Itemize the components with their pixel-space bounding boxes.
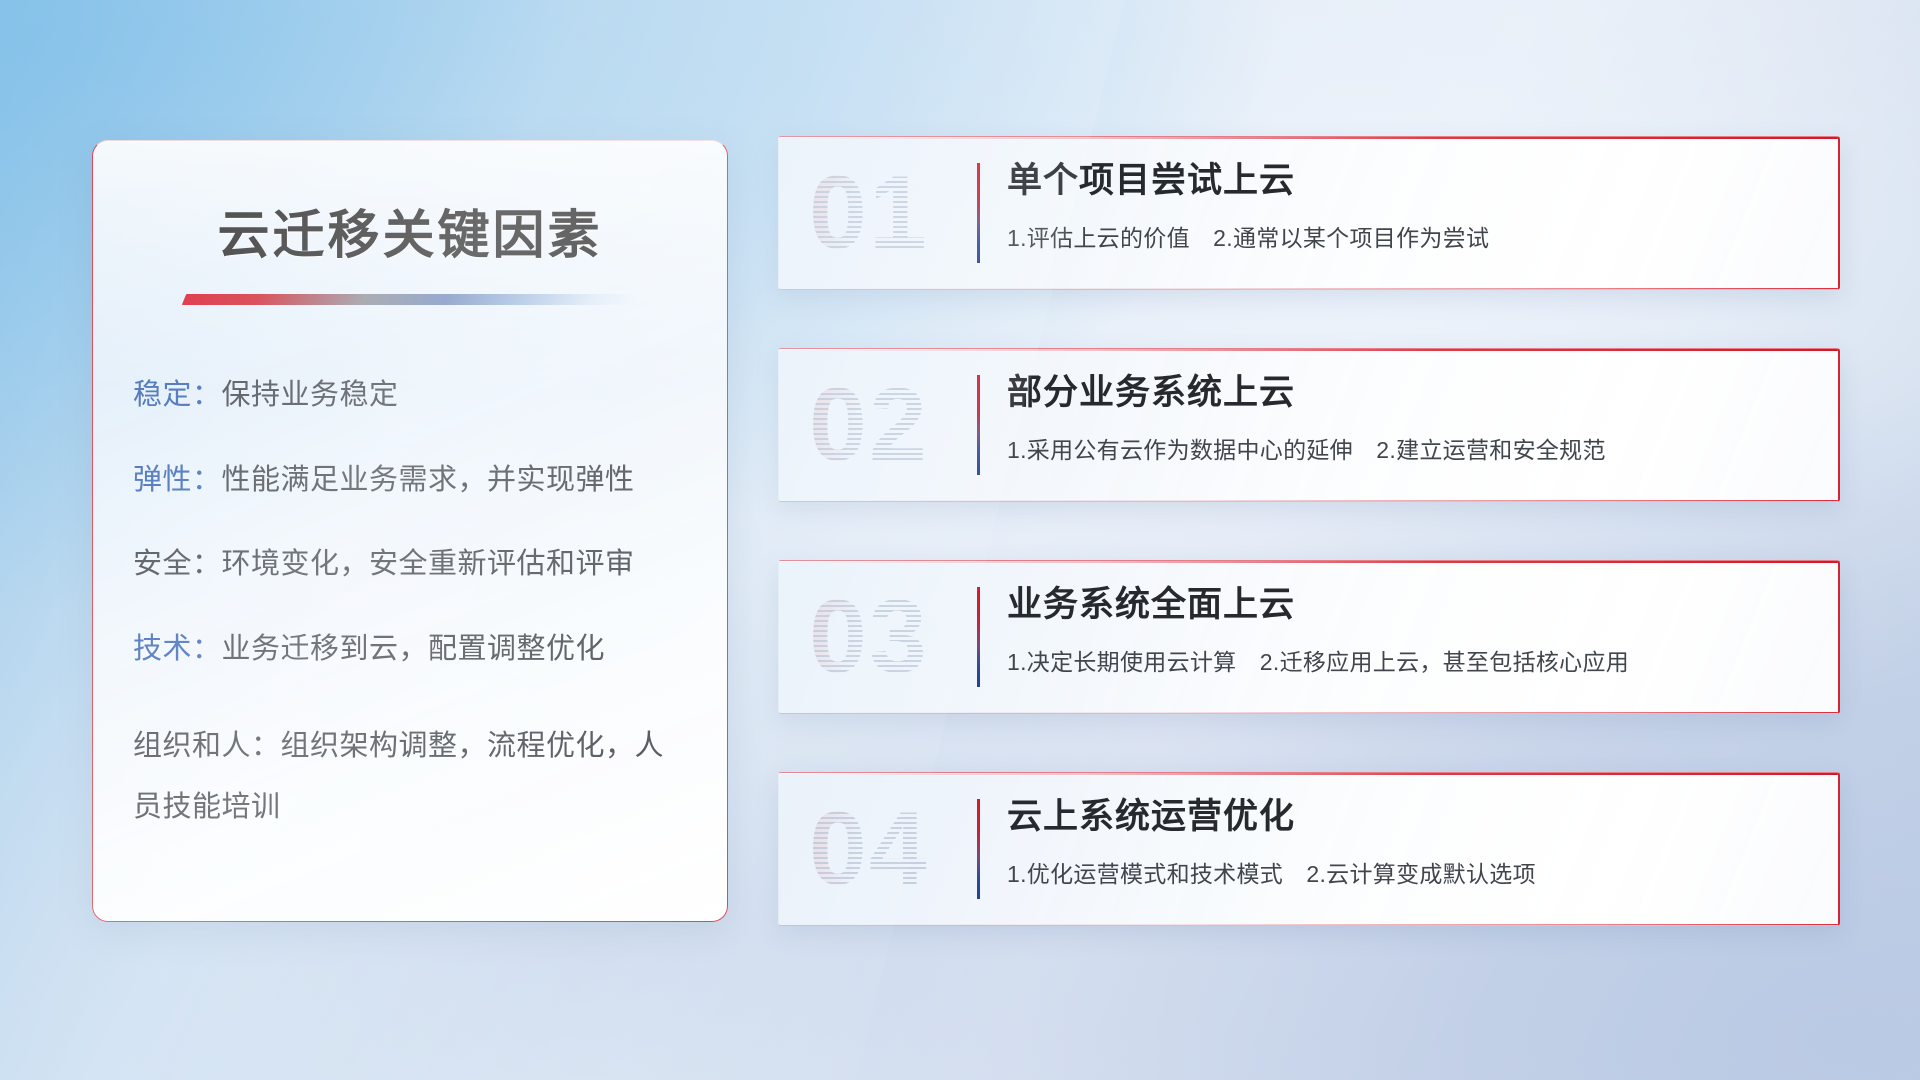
stage-title: 部分业务系统上云 bbox=[1007, 371, 1814, 415]
stage-subtitle: 1.评估上云的价值 2.通常以某个项目作为尝试 bbox=[1007, 219, 1814, 253]
stage-card[interactable]: 02 部分业务系统上云 1.采用公有云作为数据中心的延伸 2.建立运营和安全规范 bbox=[778, 348, 1840, 502]
factor-label: 弹性： bbox=[133, 464, 222, 496]
stage-card[interactable]: 01 单个项目尝试上云 1.评估上云的价值 2.通常以某个项目作为尝试 bbox=[778, 136, 1840, 290]
stage-divider-bar bbox=[977, 163, 980, 263]
page-title: 云迁移关键因素 bbox=[93, 193, 727, 268]
stage-divider-bar bbox=[977, 799, 980, 899]
list-item: 弹性：性能满足业务需求，并实现弹性 bbox=[133, 462, 691, 500]
stage-subtitle: 1.决定长期使用云计算 2.迁移应用上云，甚至包括核心应用 bbox=[1007, 643, 1814, 677]
stage-subtitle: 1.优化运营模式和技术模式 2.云计算变成默认选项 bbox=[1007, 855, 1814, 889]
stage-subtitle: 1.采用公有云作为数据中心的延伸 2.建立运营和安全规范 bbox=[1007, 431, 1814, 465]
list-item: 技术：业务迁移到云，配置调整优化 bbox=[133, 631, 691, 669]
stage-card[interactable]: 03 业务系统全面上云 1.决定长期使用云计算 2.迁移应用上云，甚至包括核心应… bbox=[778, 560, 1840, 714]
key-factors-panel: 云迁移关键因素 稳定：保持业务稳定 弹性：性能满足业务需求，并实现弹性 安全：环… bbox=[92, 140, 728, 922]
list-item: 安全：环境变化，安全重新评估和评审 bbox=[133, 546, 691, 584]
migration-stage-cards: 01 单个项目尝试上云 1.评估上云的价值 2.通常以某个项目作为尝试 02 部… bbox=[778, 136, 1840, 984]
factor-label: 安全： bbox=[133, 548, 222, 580]
factor-text: 环境变化，安全重新评估和评审 bbox=[222, 548, 635, 580]
list-item: 组织和人：组织架构调整，流程优化，人员技能培训 bbox=[133, 716, 691, 838]
stage-number: 02 bbox=[809, 373, 929, 477]
stage-divider-bar bbox=[977, 587, 980, 687]
stage-body: 云上系统运营优化 1.优化运营模式和技术模式 2.云计算变成默认选项 bbox=[1007, 795, 1814, 889]
key-factors-list: 稳定：保持业务稳定 弹性：性能满足业务需求，并实现弹性 安全：环境变化，安全重新… bbox=[93, 377, 727, 838]
stage-body: 部分业务系统上云 1.采用公有云作为数据中心的延伸 2.建立运营和安全规范 bbox=[1007, 371, 1814, 465]
factor-text: 保持业务稳定 bbox=[222, 379, 399, 411]
stage-divider-bar bbox=[977, 375, 980, 475]
slide-canvas: 云迁移关键因素 稳定：保持业务稳定 弹性：性能满足业务需求，并实现弹性 安全：环… bbox=[0, 0, 1920, 1080]
stage-title: 云上系统运营优化 bbox=[1007, 795, 1814, 839]
factor-label: 稳定： bbox=[133, 379, 222, 411]
factor-label: 组织和人： bbox=[133, 730, 281, 762]
title-underline-gradient bbox=[182, 294, 638, 305]
stage-card[interactable]: 04 云上系统运营优化 1.优化运营模式和技术模式 2.云计算变成默认选项 bbox=[778, 772, 1840, 926]
factor-text: 性能满足业务需求，并实现弹性 bbox=[222, 464, 635, 496]
stage-number: 01 bbox=[809, 161, 929, 265]
stage-number: 03 bbox=[809, 585, 929, 689]
list-item: 稳定：保持业务稳定 bbox=[133, 377, 691, 415]
stage-number: 04 bbox=[809, 797, 929, 901]
factor-label: 技术： bbox=[133, 633, 222, 665]
stage-body: 业务系统全面上云 1.决定长期使用云计算 2.迁移应用上云，甚至包括核心应用 bbox=[1007, 583, 1814, 677]
stage-title: 单个项目尝试上云 bbox=[1007, 159, 1814, 203]
factor-text: 业务迁移到云，配置调整优化 bbox=[222, 633, 606, 665]
stage-title: 业务系统全面上云 bbox=[1007, 583, 1814, 627]
stage-body: 单个项目尝试上云 1.评估上云的价值 2.通常以某个项目作为尝试 bbox=[1007, 159, 1814, 253]
